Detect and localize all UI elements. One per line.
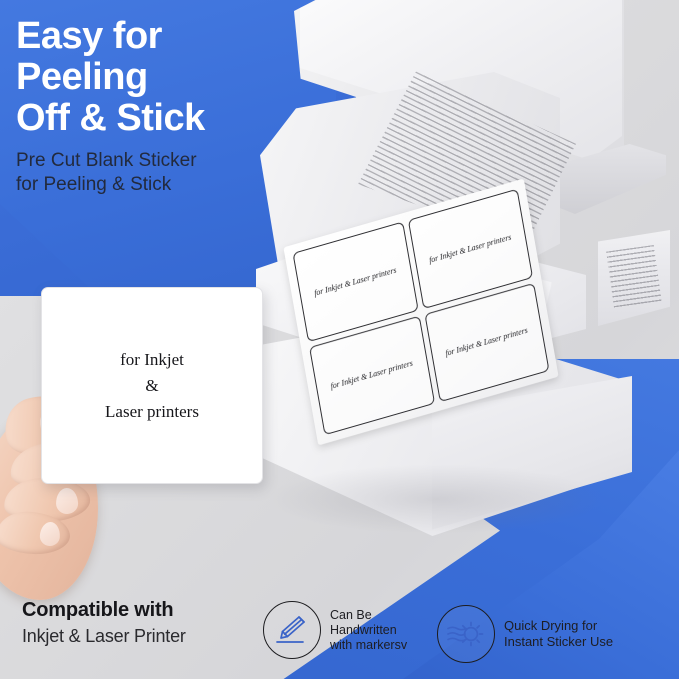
headline-line: Easy for bbox=[16, 16, 316, 57]
sticker-card-closeup: for Inkjet & Laser printers bbox=[41, 287, 263, 484]
badge-circle bbox=[437, 605, 495, 663]
sticker-label-text: for Inkjet & Laser printers bbox=[428, 232, 512, 265]
page-title: Easy for Peeling Off & Stick bbox=[16, 16, 316, 139]
compatibility-block: Compatible with Inkjet & Laser Printer bbox=[22, 597, 272, 649]
feature-bar: Compatible with Inkjet & Laser Printer C… bbox=[0, 583, 679, 679]
subheadline-line: for Peeling & Stick bbox=[16, 173, 316, 197]
sun-drying-icon bbox=[446, 617, 486, 651]
pen-writing-icon bbox=[273, 613, 311, 647]
hero-subheadline: Pre Cut Blank Sticker for Peeling & Stic… bbox=[16, 149, 316, 197]
feature-badge-handwritten: Can Be Handwritten with markersv bbox=[263, 601, 407, 659]
sticker-label-text: for Inkjet & Laser printers bbox=[445, 326, 529, 359]
printer-side-vent bbox=[598, 230, 670, 326]
compatibility-title: Compatible with bbox=[22, 597, 272, 623]
compatibility-subtitle: Inkjet & Laser Printer bbox=[22, 623, 272, 649]
badge-text-quick-drying: Quick Drying for Instant Sticker Use bbox=[504, 618, 613, 650]
sticker-label-text: for Inkjet & Laser printers bbox=[330, 359, 414, 392]
printer-shadow bbox=[266, 464, 606, 534]
headline-line: Peeling bbox=[16, 57, 316, 98]
sticker-label-text: for Inkjet & Laser printers bbox=[313, 265, 397, 298]
product-marketing-image: for Inkjet & Laser printers for Inkjet &… bbox=[0, 0, 679, 679]
badge-text-handwritten: Can Be Handwritten with markersv bbox=[330, 608, 407, 653]
feature-badge-quick-drying: Quick Drying for Instant Sticker Use bbox=[437, 605, 613, 663]
hero-headline-block: Easy for Peeling Off & Stick Pre Cut Bla… bbox=[16, 16, 316, 197]
subheadline-line: Pre Cut Blank Sticker bbox=[16, 149, 316, 173]
headline-line: Off & Stick bbox=[16, 98, 316, 139]
badge-circle bbox=[263, 601, 321, 659]
sticker-card-text: for Inkjet & Laser printers bbox=[105, 347, 199, 425]
